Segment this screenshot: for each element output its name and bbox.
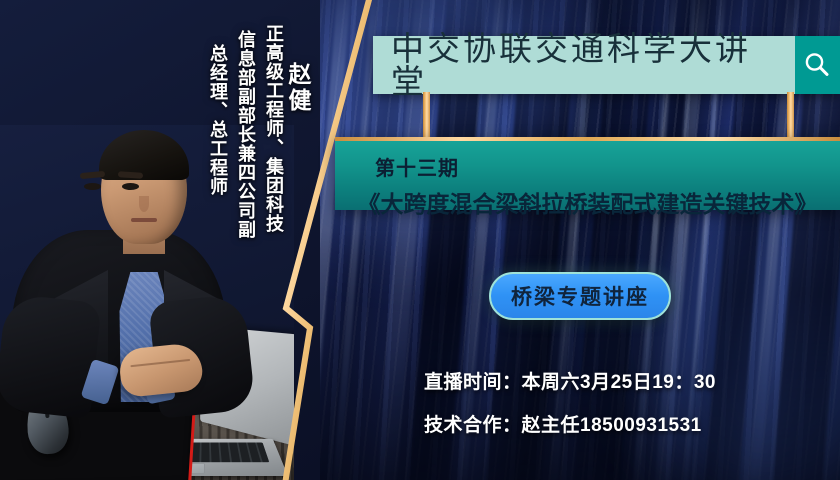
- speaker-title-line-3: 总经理、总工程师: [205, 44, 231, 196]
- lecture-title: 《大跨度混合梁斜拉桥装配式建造关键技术》: [335, 185, 840, 219]
- suit-arm-left: [0, 293, 102, 418]
- sign-post-right: [787, 92, 794, 140]
- broadcast-time-text: 直播时间：本周六3月25日19：30: [424, 367, 716, 394]
- speaker-title-line-2: 信息部副部长兼四公司副: [233, 30, 259, 239]
- topic-badge[interactable]: 桥梁专题讲座: [489, 272, 671, 320]
- hair: [99, 130, 189, 180]
- mouth: [131, 218, 157, 222]
- eye-left: [84, 183, 101, 190]
- eye-right: [122, 183, 139, 190]
- nose: [139, 196, 149, 212]
- main-title-text: 中交协联交通科学大讲堂: [373, 36, 795, 94]
- poster-root: 总经理、总工程师 信息部副部长兼四公司副 正高级工程师、集团科技 赵健 中交协联…: [0, 0, 840, 480]
- cooperation-contact-text: 技术合作：赵主任18500931531: [424, 410, 702, 437]
- main-title-sign: 中交协联交通科学大讲堂: [373, 36, 840, 94]
- speaker-name: 赵健: [281, 62, 315, 114]
- speaker-title-line-1: 正高级工程师、集团科技: [261, 24, 287, 233]
- lecture-issue-number: 第十三期: [375, 152, 840, 181]
- search-icon[interactable]: [795, 36, 840, 94]
- sign-post-left: [423, 92, 430, 140]
- lecture-banner: 第十三期 《大跨度混合梁斜拉桥装配式建造关键技术》: [335, 137, 840, 210]
